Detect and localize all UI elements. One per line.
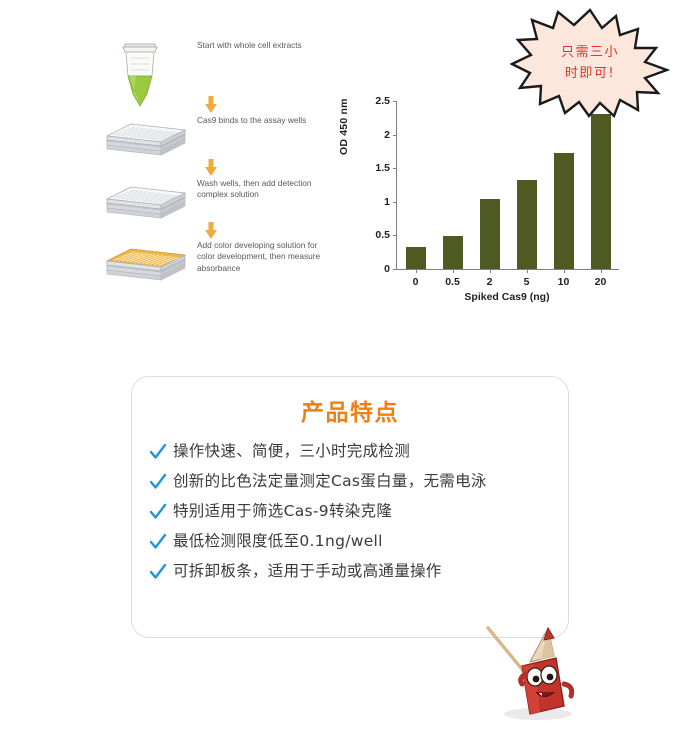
assay-overview-panel: Start with whole cell extracts — [60, 0, 660, 340]
chart-bar-column: 5 — [508, 101, 545, 269]
microplate-clear-icon — [105, 178, 187, 224]
chart-x-tick-mark — [453, 269, 454, 273]
microplate-orange-icon — [105, 240, 187, 286]
chart-bar — [480, 199, 500, 269]
callout-line-2: 时即可! — [565, 63, 615, 84]
feature-item: 操作快速、简便，三小时完成检测 — [148, 441, 568, 461]
chart-x-tick-label: 10 — [545, 276, 582, 288]
feature-item: 最低检测限度低至0.1ng/well — [148, 531, 568, 551]
callout-text-wrap: 只需三小 时即可! — [510, 8, 670, 118]
chart-x-tick-mark — [416, 269, 417, 273]
feature-item-label: 创新的比色法定量测定Cas蛋白量，无需电泳 — [173, 471, 487, 491]
chart-bar-column: 0.5 — [434, 101, 471, 269]
feature-item: 特别适用于筛选Cas-9转染克隆 — [148, 501, 568, 521]
chart-bar — [517, 180, 537, 269]
microplate-clear-icon — [105, 115, 187, 161]
chart-x-tick-label: 20 — [582, 276, 619, 288]
workflow-step-label: Cas9 binds to the assay wells — [197, 115, 329, 126]
chart-bar-column: 0 — [397, 101, 434, 269]
chart-x-tick-mark — [527, 269, 528, 273]
feature-item: 可拆卸板条，适用于手动或高通量操作 — [148, 561, 568, 581]
workflow-step-label: Start with whole cell extracts — [197, 40, 329, 51]
product-features-box: 产品特点 操作快速、简便，三小时完成检测创新的比色法定量测定Cas蛋白量，无需电… — [131, 376, 569, 638]
red-pencil-mascot — [478, 622, 608, 722]
workflow-step-label: Add color developing solution for color … — [197, 240, 329, 274]
chart-x-tick-label: 0.5 — [434, 276, 471, 288]
chart-x-tick-mark — [601, 269, 602, 273]
chart-bar — [591, 114, 611, 269]
chart-bar-column: 2 — [471, 101, 508, 269]
feature-item-label: 可拆卸板条，适用于手动或高通量操作 — [173, 561, 442, 581]
down-arrow-icon — [203, 159, 219, 177]
chart-bar — [443, 236, 463, 269]
feature-item: 创新的比色法定量测定Cas蛋白量，无需电泳 — [148, 471, 568, 491]
chart-bar-column: 10 — [545, 101, 582, 269]
features-list: 操作快速、简便，三小时完成检测创新的比色法定量测定Cas蛋白量，无需电泳特别适用… — [132, 441, 568, 581]
feature-item-label: 特别适用于筛选Cas-9转染克隆 — [173, 501, 392, 521]
callout-starburst: 只需三小 时即可! — [510, 8, 670, 118]
chart-x-axis-title: Spiked Cas9 (ng) — [396, 291, 618, 303]
chart-x-tick-label: 5 — [508, 276, 545, 288]
chart-plot-area: 00.511.522.5 00.5251020 — [396, 101, 619, 270]
chart-bar — [554, 153, 574, 269]
chart-x-tick-label: 2 — [471, 276, 508, 288]
feature-item-label: 最低检测限度低至0.1ng/well — [173, 531, 383, 551]
chart-x-tick-label: 0 — [397, 276, 434, 288]
down-arrow-icon — [203, 222, 219, 240]
od450-bar-chart: OD 450 nm 00.511.522.5 00.5251020 Spiked… — [350, 95, 640, 310]
chart-x-tick-mark — [490, 269, 491, 273]
check-icon — [148, 532, 168, 552]
chart-x-tick-mark — [564, 269, 565, 273]
chart-y-tick-mark — [393, 269, 397, 270]
check-icon — [148, 502, 168, 522]
chart-bar — [406, 247, 426, 269]
chart-bars: 00.5251020 — [397, 101, 619, 269]
workflow-diagram: Start with whole cell extracts — [105, 40, 335, 300]
feature-item-label: 操作快速、简便，三小时完成检测 — [173, 441, 410, 461]
microcentrifuge-tube-icon — [105, 40, 187, 112]
callout-line-1: 只需三小 — [561, 42, 619, 63]
features-title: 产品特点 — [132, 393, 568, 427]
down-arrow-icon — [203, 96, 219, 114]
check-icon — [148, 442, 168, 462]
chart-bar-column: 20 — [582, 101, 619, 269]
check-icon — [148, 472, 168, 492]
check-icon — [148, 562, 168, 582]
workflow-step-label: Wash wells, then add detection complex s… — [197, 178, 329, 201]
chart-y-axis-title: OD 450 nm — [338, 98, 350, 155]
